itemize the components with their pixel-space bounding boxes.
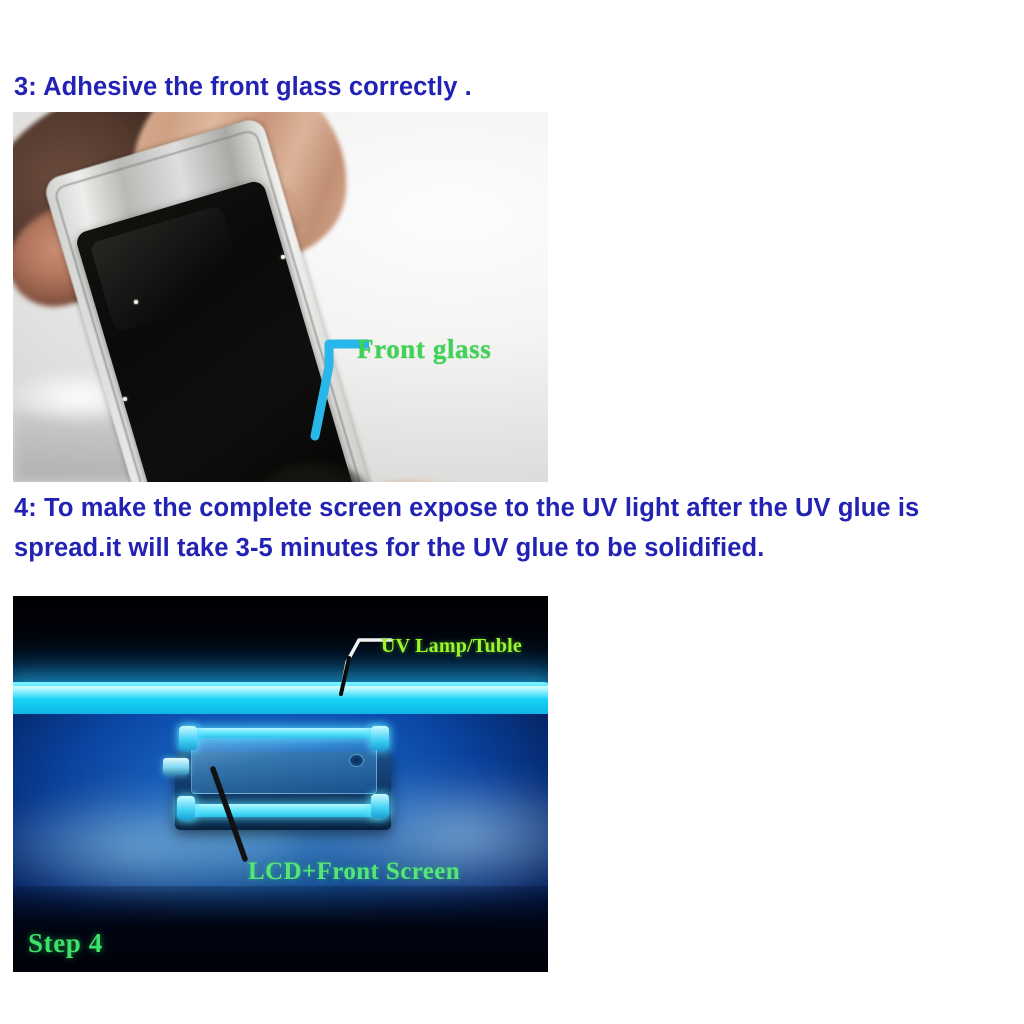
- tube-highlight: [13, 686, 548, 698]
- lcd-front-screen-label: LCD+Front Screen: [248, 858, 460, 886]
- fixture-adjust-knob: [163, 758, 189, 775]
- frame-screw-dot: [134, 300, 138, 304]
- fixture-clamp: [179, 726, 197, 750]
- uv-lamp-tube: [13, 682, 548, 718]
- fixture-clamp: [371, 726, 389, 750]
- frame-screw-dot: [281, 255, 285, 259]
- fixture-rail-top: [183, 728, 383, 738]
- step4-badge: Step 4: [28, 928, 103, 959]
- lcd-screen-pointer-line: [205, 765, 265, 865]
- fixture-clamp: [177, 796, 195, 820]
- front-glass-label: Front glass: [357, 334, 491, 365]
- step3-instruction-heading: 3: Adhesive the front glass correctly .: [14, 72, 994, 102]
- uv-lamp-tube-label: UV Lamp/Tuble: [381, 635, 522, 658]
- fixture-clamp: [371, 794, 389, 818]
- glass-reflection: [89, 205, 247, 333]
- step3-photo: Front glass Step 3: [13, 112, 548, 482]
- fixture-hole: [349, 754, 364, 767]
- step4-instruction-heading: 4: To make the complete screen expose to…: [14, 488, 1002, 568]
- instruction-sheet: 3: Adhesive the front glass correctly . …: [0, 0, 1024, 1024]
- frame-screw-dot: [123, 397, 127, 401]
